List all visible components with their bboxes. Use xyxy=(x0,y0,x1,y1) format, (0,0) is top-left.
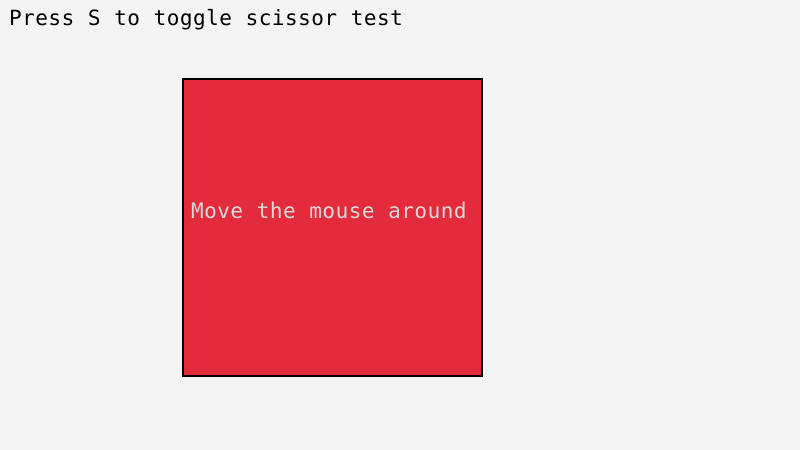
scissor-toggle-hint: Press S to toggle scissor test xyxy=(9,5,403,31)
scissor-clipped-text: Move the mouse around to r xyxy=(191,198,483,224)
app-window: Press S to toggle scissor test Move the … xyxy=(0,0,800,450)
scissor-rectangle[interactable]: Move the mouse around to r xyxy=(182,78,483,377)
